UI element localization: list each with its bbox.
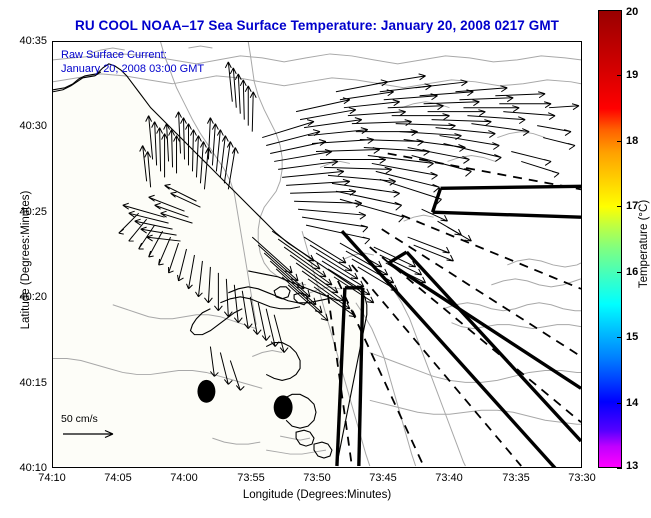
colorbar-tick-label: 15 <box>626 331 638 343</box>
colorbar-tick-label: 17 <box>626 200 638 212</box>
figure-canvas: RU COOL NOAA–17 Sea Surface Temperature:… <box>0 0 651 518</box>
temperature-colorbar[interactable] <box>598 10 622 468</box>
xtick-label: 73:35 <box>502 472 530 484</box>
colorbar-axis-label: Temperature (°C) <box>638 164 650 324</box>
current-annotation: Raw Surface Current: January 20, 2008 03… <box>61 48 204 76</box>
colorbar-tick-label: 19 <box>626 69 638 81</box>
colorbar-tick-mark <box>617 403 622 404</box>
map-graphics <box>53 42 581 467</box>
annotation-line-1: Raw Surface Current: <box>61 48 204 62</box>
xtick-label: 73:55 <box>237 472 265 484</box>
colorbar-tick-mark <box>617 272 622 273</box>
right-arrow-icon <box>61 428 121 440</box>
xtick-label: 73:50 <box>303 472 331 484</box>
xtick-label: 73:40 <box>435 472 463 484</box>
map-axes[interactable]: Raw Surface Current: January 20, 2008 03… <box>52 41 582 468</box>
colorbar-tick-mark <box>617 10 622 11</box>
ytick-label: 40:35 <box>19 35 47 47</box>
xtick-label: 74:00 <box>170 472 198 484</box>
xtick-label: 74:05 <box>104 472 132 484</box>
colorbar-tick-mark <box>617 337 622 338</box>
figure-title: RU COOL NOAA–17 Sea Surface Temperature:… <box>52 18 582 33</box>
vector-scale-legend: 50 cm/s <box>61 413 121 445</box>
colorbar-tick-label: 14 <box>626 397 638 409</box>
colorbar-tick-label: 13 <box>626 460 638 472</box>
colorbar-tick-label: 18 <box>626 135 638 147</box>
x-axis-label: Longitude (Degrees:Minutes) <box>52 489 582 501</box>
colorbar-tick-mark <box>617 75 622 76</box>
scale-legend-label: 50 cm/s <box>61 413 121 425</box>
colorbar-tick-label: 20 <box>626 6 638 18</box>
colorbar-tick-label: 16 <box>626 266 638 278</box>
ytick-label: 40:15 <box>19 377 47 389</box>
colorbar-tick-mark <box>617 468 622 469</box>
ytick-label: 40:30 <box>19 120 47 132</box>
colorbar-tick-mark <box>617 141 622 142</box>
ytick-label: 40:10 <box>19 462 47 474</box>
xtick-label: 73:30 <box>568 472 596 484</box>
colorbar-tick-mark <box>617 206 622 207</box>
annotation-line-2: January 20, 2008 03:00 GMT <box>61 62 204 76</box>
y-axis-label: Latitude (Degrees:Minutes) <box>20 160 32 360</box>
xtick-label: 73:45 <box>369 472 397 484</box>
